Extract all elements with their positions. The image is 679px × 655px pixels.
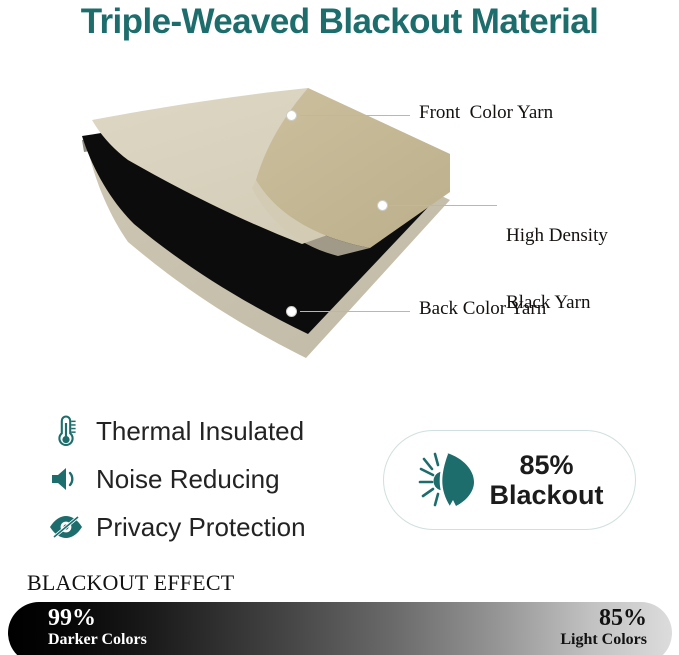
feature-item-thermal: Thermal Insulated <box>46 407 376 455</box>
blackout-label: Blackout <box>489 480 603 510</box>
infographic-page: Triple-Weaved Blackout Material <box>0 0 679 655</box>
callout-label-black-line1: High Density <box>506 225 608 247</box>
feature-label-noise: Noise Reducing <box>96 464 280 495</box>
light-colors-label: Light Colors <box>560 631 647 649</box>
blackout-effect-right: 85% Light Colors <box>560 606 647 649</box>
darker-colors-label: Darker Colors <box>48 631 147 649</box>
blackout-effect-title: BLACKOUT EFFECT <box>27 570 234 596</box>
blackout-badge: 85% Blackout <box>383 430 636 530</box>
blackout-percent: 85% <box>489 450 603 480</box>
feature-label-thermal: Thermal Insulated <box>96 416 304 447</box>
sun-behind-curtain-icon <box>415 449 483 511</box>
callout-line-front <box>300 115 410 116</box>
blackout-effect-left: 99% Darker Colors <box>48 606 147 649</box>
callout-label-back: Back Color Yarn <box>419 298 546 320</box>
callout-line-black <box>389 205 497 206</box>
callout-line-back <box>300 311 410 312</box>
feature-item-noise: Noise Reducing <box>46 455 376 503</box>
thermometer-icon <box>46 412 86 450</box>
callout-label-front: Front Color Yarn <box>419 102 553 124</box>
callout-marker-black <box>377 200 388 211</box>
feature-label-privacy: Privacy Protection <box>96 512 306 543</box>
light-colors-percent: 85% <box>560 606 647 631</box>
page-title: Triple-Weaved Blackout Material <box>0 2 679 42</box>
callout-marker-back <box>286 306 297 317</box>
darker-colors-percent: 99% <box>48 606 147 631</box>
eye-slash-icon <box>46 508 86 546</box>
speaker-sound-icon <box>46 460 86 498</box>
fabric-layers-diagram <box>70 88 450 358</box>
blackout-badge-text: 85% Blackout <box>489 450 603 510</box>
feature-list: Thermal Insulated Noise Reducing <box>46 407 376 551</box>
feature-item-privacy: Privacy Protection <box>46 503 376 551</box>
callout-marker-front <box>286 110 297 121</box>
callout-label-black: High Density Black Yarn <box>506 180 608 359</box>
